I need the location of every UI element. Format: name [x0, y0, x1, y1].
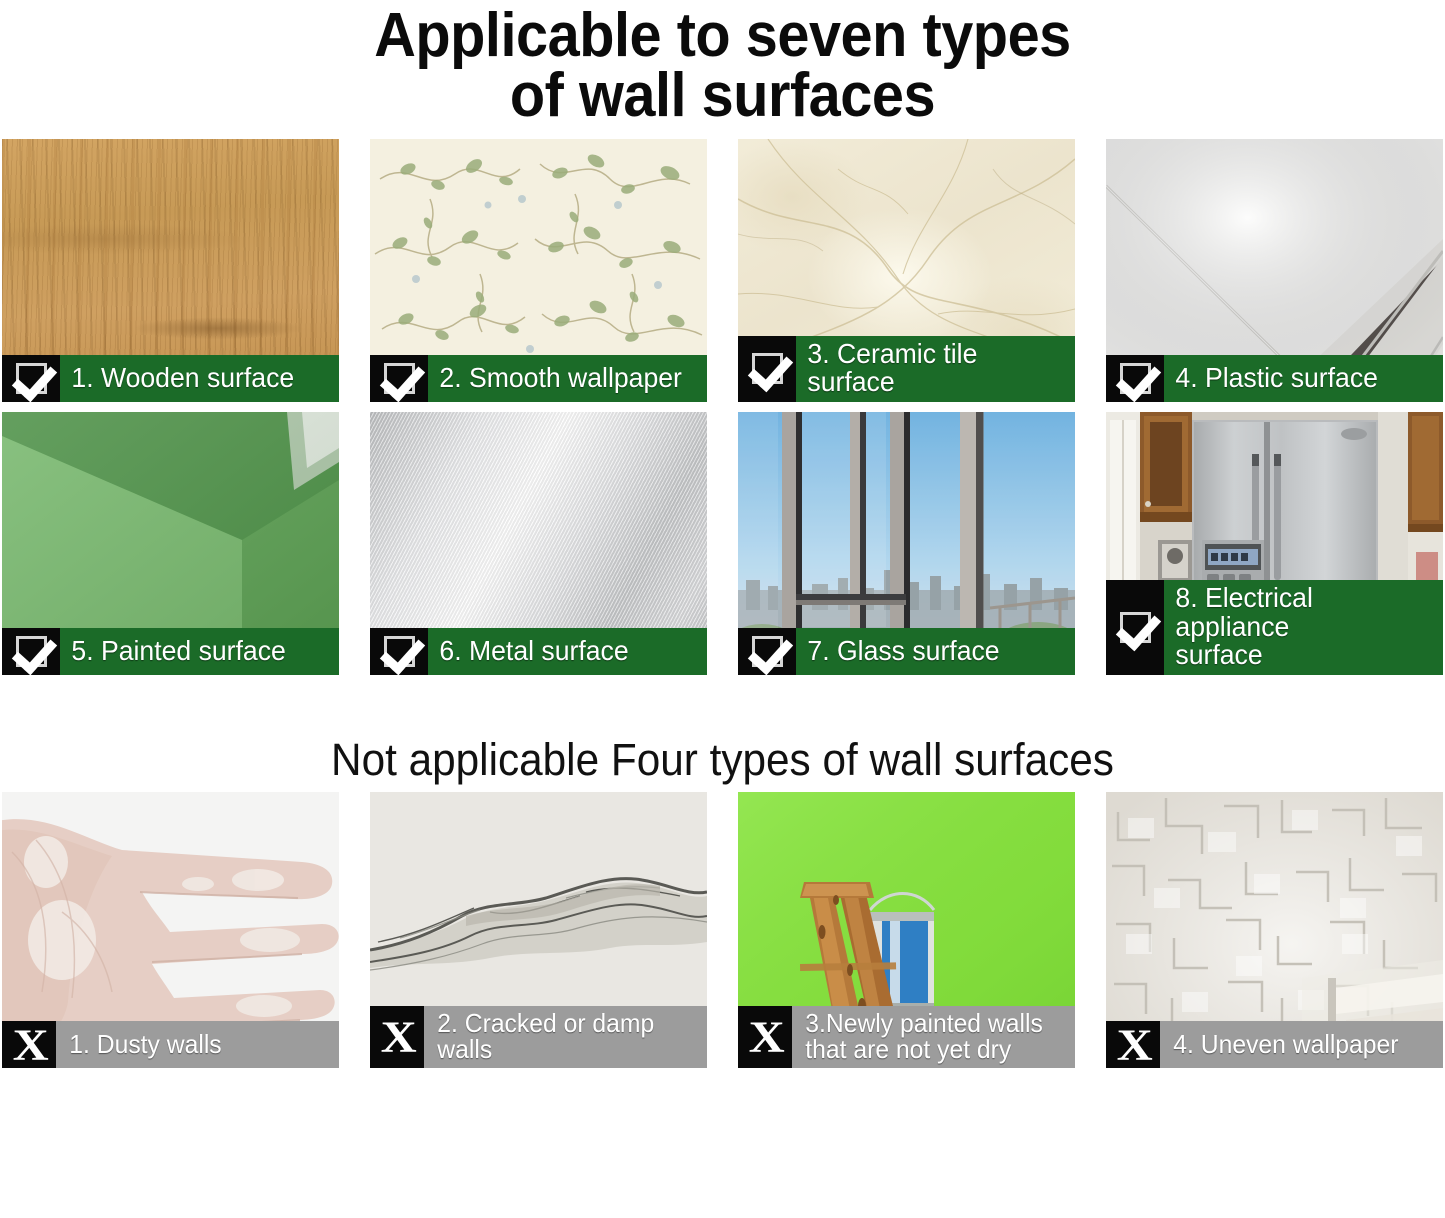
checkmark-icon [2, 355, 60, 402]
not-applicable-surfaces-grid: X 1. Dusty walls [0, 792, 1445, 1068]
x-mark-glyph: X [1116, 1023, 1150, 1067]
caption-plastic: 4. Plastic surface [1106, 355, 1443, 402]
x-mark-icon: X [738, 1006, 792, 1069]
page-title-line-1: Applicable to seven types [51, 6, 1395, 66]
caption-painted: 5. Painted surface [2, 628, 339, 675]
surface-tile-electrical-appliance: 8. Electrical appliance surface [1106, 412, 1443, 675]
page-title-line-2: of wall surfaces [51, 66, 1395, 126]
page-title: Applicable to seven types of wall surfac… [51, 0, 1395, 126]
checkmark-icon [738, 628, 796, 675]
caption-label-line-1: 3.Newly painted walls [805, 1010, 1055, 1037]
x-mark-glyph: X [748, 1015, 782, 1059]
caption-label: 7. Glass surface [796, 628, 1061, 675]
x-mark-glyph: X [12, 1023, 46, 1067]
surface-tile-smooth-wallpaper: 2. Smooth wallpaper [370, 139, 707, 402]
checkmark-icon [1106, 580, 1164, 675]
caption-label-line-2: that are not yet dry [805, 1036, 1055, 1063]
x-mark-icon: X [2, 1021, 56, 1068]
caption-glass: 7. Glass surface [738, 628, 1075, 675]
infographic-page: Applicable to seven types of wall surfac… [0, 0, 1445, 1218]
checkmark-icon [2, 628, 60, 675]
checkmark-icon [1106, 355, 1164, 402]
caption-label: 4. Plastic surface [1164, 355, 1429, 402]
caption-label: 3. Ceramic tile surface [796, 336, 1061, 403]
surface-tile-plastic: 4. Plastic surface [1106, 139, 1443, 402]
caption-label: 6. Metal surface [428, 628, 693, 675]
caption-label: 1. Wooden surface [60, 355, 325, 402]
caption-label-line-2: surface [1175, 641, 1423, 670]
x-mark-glyph: X [380, 1015, 414, 1059]
checkmark-icon [370, 628, 428, 675]
caption-ceramic: 3. Ceramic tile surface [738, 336, 1075, 403]
section-title-not-applicable: Not applicable Four types of wall surfac… [43, 737, 1401, 782]
caption-label: 2. Cracked or damp walls [424, 1006, 693, 1069]
applicable-surfaces-grid: 1. Wooden surface [0, 139, 1445, 675]
caption-label: 5. Painted surface [60, 628, 325, 675]
caption-label: 4. Uneven wallpaper [1160, 1021, 1429, 1068]
caption-wooden: 1. Wooden surface [2, 355, 339, 402]
nonsurface-tile-newly-painted: X 3.Newly painted walls that are not yet… [738, 792, 1075, 1068]
caption-label: 3.Newly painted walls that are not yet d… [792, 1006, 1061, 1069]
nonsurface-tile-uneven-wallpaper: X 4. Uneven wallpaper [1106, 792, 1443, 1068]
caption-label: 8. Electrical appliance surface [1164, 580, 1429, 675]
caption-metal: 6. Metal surface [370, 628, 707, 675]
caption-dusty-walls: X 1. Dusty walls [2, 1021, 339, 1068]
surface-tile-wooden: 1. Wooden surface [2, 139, 339, 402]
caption-newly-painted: X 3.Newly painted walls that are not yet… [738, 1006, 1075, 1069]
checkmark-icon [738, 336, 796, 403]
caption-label: 1. Dusty walls [56, 1021, 325, 1068]
x-mark-icon: X [1106, 1021, 1160, 1068]
caption-uneven-wallpaper: X 4. Uneven wallpaper [1106, 1021, 1443, 1068]
checkmark-icon [370, 355, 428, 402]
surface-tile-painted: 5. Painted surface [2, 412, 339, 675]
caption-smooth-wallpaper: 2. Smooth wallpaper [370, 355, 707, 402]
x-mark-icon: X [370, 1006, 424, 1069]
surface-tile-metal: 6. Metal surface [370, 412, 707, 675]
nonsurface-tile-cracked-walls: X 2. Cracked or damp walls [370, 792, 707, 1068]
caption-label-line-1: 8. Electrical appliance [1175, 584, 1423, 642]
caption-cracked-walls: X 2. Cracked or damp walls [370, 1006, 707, 1069]
caption-label: 2. Smooth wallpaper [428, 355, 693, 402]
surface-tile-ceramic: 3. Ceramic tile surface [738, 139, 1075, 402]
caption-electrical-appliance: 8. Electrical appliance surface [1106, 580, 1443, 675]
nonsurface-tile-dusty-walls: X 1. Dusty walls [2, 792, 339, 1068]
surface-tile-glass: 7. Glass surface [738, 412, 1075, 675]
